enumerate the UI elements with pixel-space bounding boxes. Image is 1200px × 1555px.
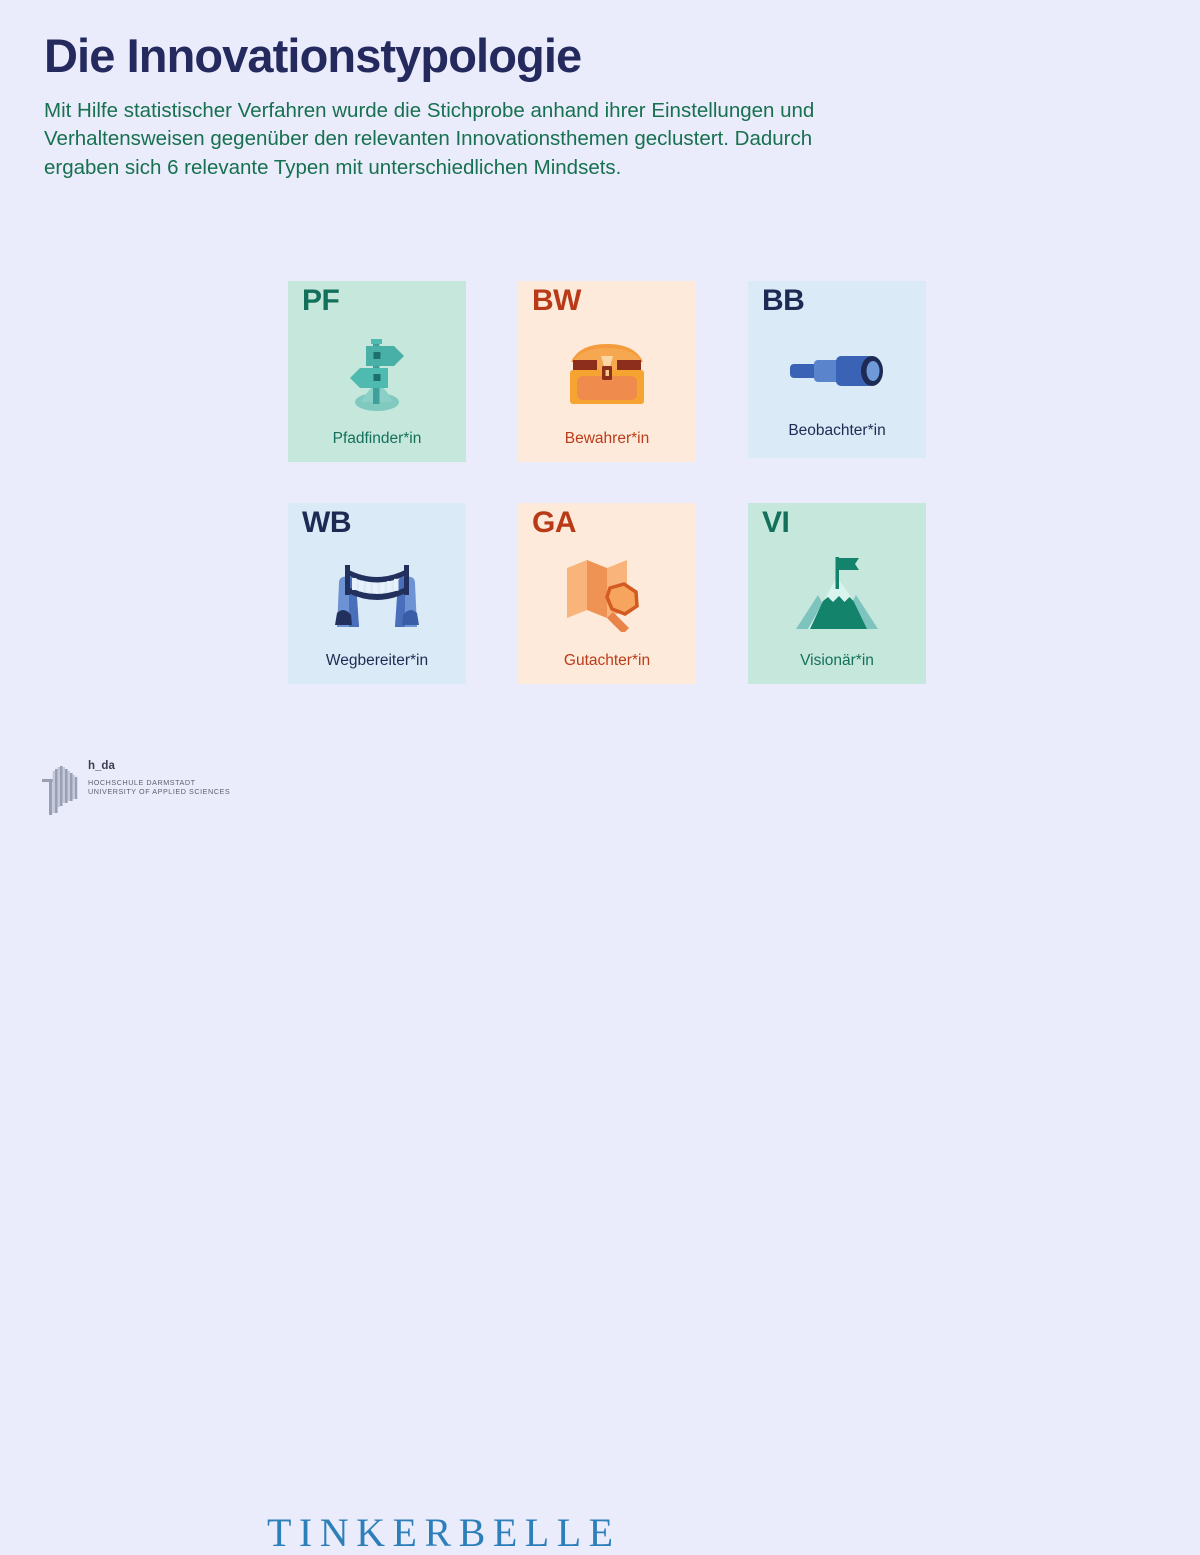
type-card-label: Wegbereiter*in xyxy=(288,652,466,670)
type-card-label: Beobachter*in xyxy=(748,422,926,440)
header: Die Innovationstypologie Mit Hilfe stati… xyxy=(44,30,924,182)
hda-logo-text: h_da HOCHSCHULE DARMSTADT UNIVERSITY OF … xyxy=(88,755,230,797)
type-card-code: GA xyxy=(532,508,576,538)
hda-subtitle-line1: HOCHSCHULE DARMSTADT xyxy=(88,778,230,788)
hda-logo: h_da HOCHSCHULE DARMSTADT UNIVERSITY OF … xyxy=(40,755,230,817)
type-card-wb[interactable]: WB xyxy=(288,503,466,684)
page-title: Die Innovationstypologie xyxy=(44,30,924,83)
type-card-label: Visionär*in xyxy=(748,652,926,670)
type-card-ga[interactable]: GA Gutachter*in xyxy=(518,503,696,684)
page-subtitle: Mit Hilfe statistischer Verfahren wurde … xyxy=(44,97,884,183)
type-card-bw[interactable]: BW Bewahrer*in xyxy=(518,281,696,462)
hda-logo-mark-icon xyxy=(40,755,82,817)
signpost-icon xyxy=(288,327,466,413)
tinkerbelle-logo: TINKERBELLE xyxy=(267,1513,621,1553)
type-card-code: WB xyxy=(302,508,351,538)
type-card-pf[interactable]: PF Pfadfinder*in xyxy=(288,281,466,462)
bridge-icon xyxy=(288,549,466,635)
card-row-1: PF Pfadfinder*in BW xyxy=(288,281,938,462)
footer: h_da HOCHSCHULE DARMSTADT UNIVERSITY OF … xyxy=(0,745,1200,835)
treasure-chest-icon xyxy=(518,327,696,413)
type-card-code: VI xyxy=(762,508,789,538)
type-card-bb[interactable]: BB Beobachter*in xyxy=(748,281,926,458)
hda-wordmark: h_da xyxy=(88,761,230,773)
type-card-code: PF xyxy=(302,286,339,316)
type-card-label: Bewahrer*in xyxy=(518,430,696,448)
hda-subtitle-line2: UNIVERSITY OF APPLIED SCIENCES xyxy=(88,787,230,797)
type-card-label: Pfadfinder*in xyxy=(288,430,466,448)
type-card-code: BB xyxy=(762,286,804,316)
innovation-type-grid: PF Pfadfinder*in BW xyxy=(288,281,938,684)
type-card-vi[interactable]: VI Visionär*in xyxy=(748,503,926,684)
card-row-2: WB xyxy=(288,503,938,684)
mountain-flag-icon xyxy=(748,549,926,635)
telescope-icon xyxy=(748,327,926,413)
map-magnifier-icon xyxy=(518,549,696,635)
type-card-code: BW xyxy=(532,286,581,316)
type-card-label: Gutachter*in xyxy=(518,652,696,670)
